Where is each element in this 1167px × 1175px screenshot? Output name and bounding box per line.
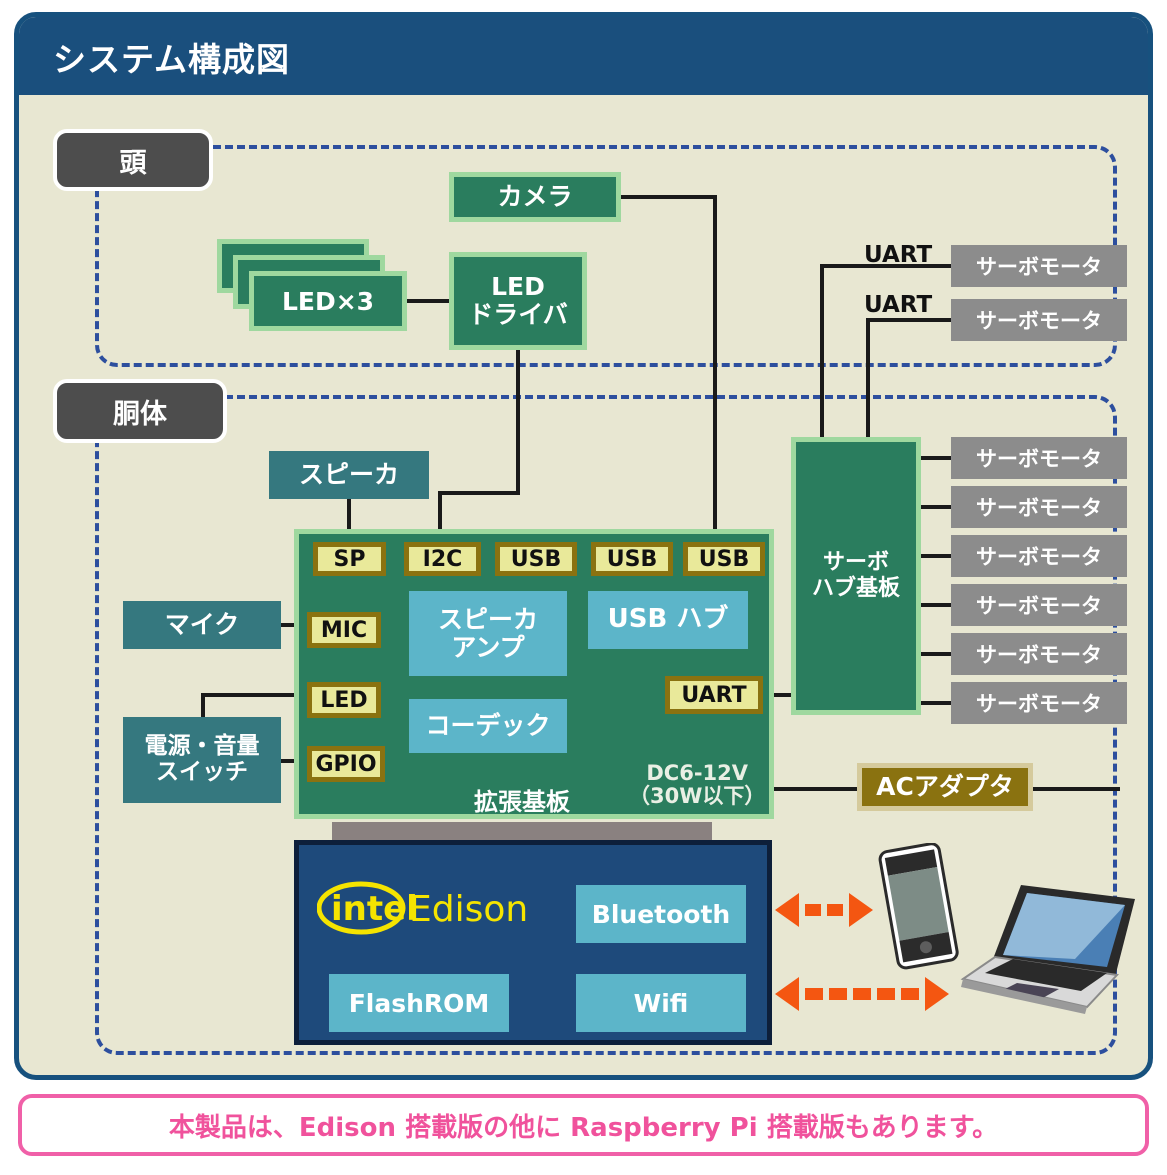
bluetooth-arrow — [775, 893, 883, 927]
connector-hub-servo-3 — [919, 554, 953, 558]
flashrom-module: FlashROM — [329, 974, 509, 1032]
port-label: UART — [681, 683, 746, 708]
connector-driver-v1 — [516, 347, 520, 495]
smartphone-illustration — [871, 843, 966, 973]
speaker-amp-line2: アンプ — [451, 634, 524, 662]
codec-label: コーデック — [425, 712, 550, 740]
uart-label-head-1: UART — [864, 242, 932, 268]
led-stack: LED×3 — [217, 239, 407, 331]
port-led[interactable]: LED — [307, 682, 381, 718]
connector-ac-right — [1032, 787, 1120, 791]
connector-hub-servo-6 — [919, 701, 953, 705]
arrow-dash-segment — [829, 988, 847, 1000]
led-count-label: LED×3 — [282, 287, 374, 316]
connector-led-to-driver — [405, 299, 451, 303]
port-label: I2C — [423, 547, 463, 572]
ac-adapter-label: ACアダプタ — [876, 773, 1014, 801]
port-label: GPIO — [315, 752, 376, 777]
mic-label: マイク — [165, 611, 240, 639]
wifi-label: Wifi — [634, 989, 689, 1018]
arrow-dash-segment — [805, 988, 823, 1000]
servo-motor-label: サーボモータ — [976, 251, 1102, 281]
speaker-amp-chip: スピーカ アンプ — [409, 591, 567, 676]
servo-motor-label: サーボモータ — [976, 541, 1102, 571]
expansion-board: 拡張基板 DC6-12V （30W以下） SP I2C USB USB USB … — [294, 529, 774, 819]
section-label-head: 頭 — [53, 129, 213, 191]
servo-motor-body-2: サーボモータ — [951, 486, 1127, 528]
port-i2c[interactable]: I2C — [404, 542, 481, 576]
connector-servo-head-2-h — [866, 318, 952, 322]
servo-motor-label: サーボモータ — [976, 443, 1102, 473]
servo-motor-head-2: サーボモータ — [951, 299, 1127, 341]
arrow-left-head-icon — [775, 893, 799, 927]
port-label: USB — [511, 547, 561, 572]
speaker-amp-line1: スピーカ — [438, 606, 538, 634]
arrow-dash-segment — [877, 988, 895, 1000]
codec-chip: コーデック — [409, 699, 567, 753]
servo-motor-label: サーボモータ — [976, 688, 1102, 718]
servo-motor-body-3: サーボモータ — [951, 535, 1127, 577]
intel-edison-logo: intel Edison — [317, 877, 567, 939]
connector-camera-h — [619, 195, 717, 199]
arrow-right-head-icon — [849, 893, 873, 927]
port-sp[interactable]: SP — [313, 542, 386, 576]
footer-note-text: 本製品は、Edison 搭載版の他に Raspberry Pi 搭載版もあります… — [169, 1107, 998, 1144]
arrow-dash-segment — [827, 904, 843, 916]
footer-note: 本製品は、Edison 搭載版の他に Raspberry Pi 搭載版もあります… — [18, 1094, 1149, 1156]
arrow-dash-segment — [901, 988, 919, 1000]
camera-box: カメラ — [449, 172, 621, 222]
arrow-dash-segment — [805, 904, 821, 916]
servo-motor-body-5: サーボモータ — [951, 633, 1127, 675]
servo-motor-head-1: サーボモータ — [951, 245, 1127, 287]
port-label: LED — [320, 688, 367, 713]
wifi-module: Wifi — [576, 974, 746, 1032]
power-spec-line2: （30W以下） — [629, 785, 765, 808]
arrow-dash-segment — [853, 988, 871, 1000]
led-driver-label-line1: LED — [491, 273, 545, 301]
section-label-body: 胴体 — [53, 379, 227, 443]
uart-label-head-2: UART — [864, 292, 932, 318]
speaker-label: スピーカ — [299, 461, 399, 489]
port-usb-2[interactable]: USB — [591, 542, 673, 576]
laptop-illustration — [955, 867, 1140, 1017]
connector-driver-h — [438, 491, 520, 495]
servo-motor-label: サーボモータ — [976, 590, 1102, 620]
servo-hub-board: サーボ ハブ基板 — [791, 437, 921, 715]
mic-box: マイク — [123, 601, 281, 649]
servo-motor-body-4: サーボモータ — [951, 584, 1127, 626]
servo-motor-label: サーボモータ — [976, 492, 1102, 522]
port-uart[interactable]: UART — [665, 676, 763, 714]
servo-hub-line2: ハブ基板 — [812, 576, 900, 602]
power-volume-switch-line2: スイッチ — [156, 760, 248, 786]
connector-camera-v — [713, 195, 717, 540]
bluetooth-module: Bluetooth — [576, 885, 746, 943]
connector-hub-servo-1 — [919, 456, 953, 460]
connector-servo-head-1-v — [820, 264, 824, 441]
port-label: USB — [699, 547, 749, 572]
svg-text:Edison: Edison — [409, 889, 528, 930]
servo-hub-line1: サーボ — [812, 550, 900, 576]
edison-board: intel Edison Bluetooth FlashROM Wifi — [294, 840, 772, 1045]
power-volume-switch-line1: 電源・音量 — [145, 734, 260, 760]
port-mic[interactable]: MIC — [307, 612, 381, 648]
usb-hub-label: USB ハブ — [608, 605, 729, 634]
led-driver-label-line2: ドライバ — [468, 301, 568, 329]
port-label: USB — [607, 547, 657, 572]
servo-motor-body-1: サーボモータ — [951, 437, 1127, 479]
page-title: システム構成図 — [53, 33, 290, 81]
svg-text:intel: intel — [331, 889, 418, 929]
led-sheet-front: LED×3 — [249, 271, 407, 331]
title-bar: システム構成図 — [19, 17, 1148, 95]
system-diagram-frame: システム構成図 頭 胴体 カメラ LED×3 LED ドライバ サーボモータ サ… — [14, 12, 1153, 1080]
connector-hub-servo-4 — [919, 603, 953, 607]
port-label: SP — [334, 547, 366, 572]
power-spec-line1: DC6-12V — [629, 762, 765, 785]
servo-motor-label: サーボモータ — [976, 305, 1102, 335]
port-gpio[interactable]: GPIO — [307, 746, 385, 782]
power-spec-label: DC6-12V （30W以下） — [629, 762, 765, 808]
port-usb-3[interactable]: USB — [683, 542, 765, 576]
led-driver-box: LED ドライバ — [449, 252, 587, 350]
arrow-right-head-icon — [925, 977, 949, 1011]
usb-hub-chip: USB ハブ — [588, 591, 748, 649]
connector-hub-servo-2 — [919, 505, 953, 509]
camera-label: カメラ — [497, 183, 572, 211]
connector-power-to-ac — [774, 787, 859, 791]
flashrom-label: FlashROM — [349, 989, 490, 1018]
wifi-arrow — [775, 977, 975, 1011]
port-label: MIC — [321, 618, 367, 643]
bluetooth-label: Bluetooth — [592, 900, 730, 929]
connector-hub-servo-5 — [919, 652, 953, 656]
servo-motor-body-6: サーボモータ — [951, 682, 1127, 724]
connector-servo-head-2-v — [866, 318, 870, 441]
power-volume-switch-box: 電源・音量 スイッチ — [123, 717, 281, 803]
port-usb-1[interactable]: USB — [495, 542, 577, 576]
ac-adapter-box: ACアダプタ — [857, 763, 1033, 811]
servo-motor-label: サーボモータ — [976, 639, 1102, 669]
connector-switch-led-h — [201, 693, 309, 697]
speaker-box: スピーカ — [269, 451, 429, 499]
expansion-board-label: 拡張基板 — [474, 782, 570, 817]
arrow-left-head-icon — [775, 977, 799, 1011]
